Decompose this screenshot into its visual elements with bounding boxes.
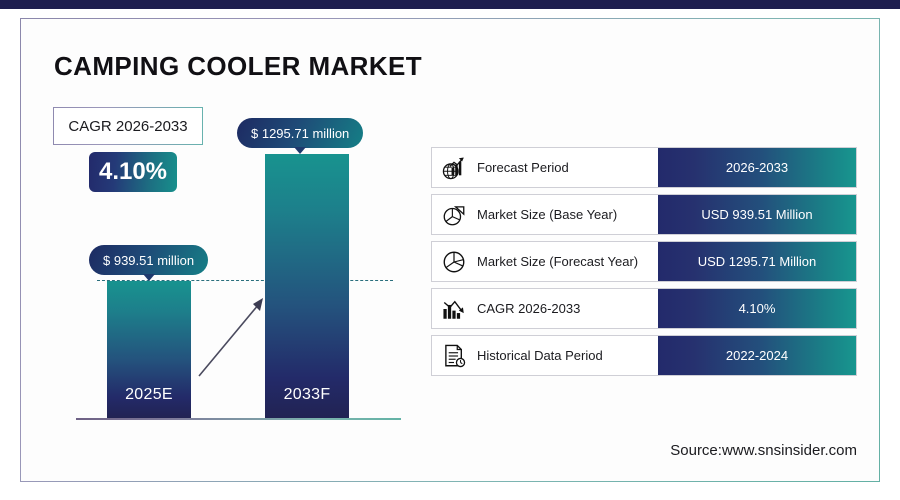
spec-label-cell: Forecast Period [432, 148, 658, 187]
spec-label-text: Historical Data Period [477, 348, 603, 363]
pie-chart-exploded-icon [441, 202, 467, 228]
bar-category-label-2033: 2033F [284, 386, 331, 418]
spec-label-cell: CAGR 2026-2033 [432, 289, 658, 328]
growth-arrow-icon [191, 284, 281, 384]
table-row: CAGR 2026-2033 4.10% [431, 288, 857, 329]
spec-value-text: USD 1295.71 Million [698, 254, 817, 269]
spec-value-text: 4.10% [739, 301, 776, 316]
document-clock-icon [441, 343, 467, 369]
bar-value-label-2033: $ 1295.71 million [251, 126, 349, 141]
spec-value-cell: 4.10% [658, 289, 856, 328]
globe-growth-chart-icon [441, 155, 467, 181]
spec-value-cell: USD 939.51 Million [658, 195, 856, 234]
spec-label-cell: Historical Data Period [432, 336, 658, 375]
table-row: Market Size (Base Year) USD 939.51 Milli… [431, 194, 857, 235]
spec-value-text: 2022-2024 [726, 348, 788, 363]
spec-label-cell: Market Size (Forecast Year) [432, 242, 658, 281]
spec-value-text: 2026-2033 [726, 160, 788, 175]
spec-label-text: CAGR 2026-2033 [477, 301, 580, 316]
bar-chart: $ 939.51 million $ 1295.71 million 2025E… [21, 19, 441, 439]
bar-chart-trend-icon [441, 296, 467, 322]
pill-pointer-icon [143, 274, 155, 281]
table-row: Historical Data Period 2022-2024 [431, 335, 857, 376]
top-accent-bar [0, 0, 900, 9]
infographic-frame: CAMPING COOLER MARKET CAGR 2026-2033 4.1… [20, 18, 880, 482]
spec-value-text: USD 939.51 Million [701, 207, 812, 222]
bar-category-label-2025: 2025E [125, 386, 173, 418]
infographic-canvas: CAMPING COOLER MARKET CAGR 2026-2033 4.1… [21, 19, 879, 481]
chart-axis-line [76, 418, 401, 420]
bar-value-pill-2033: $ 1295.71 million [237, 118, 363, 148]
table-row: Market Size (Forecast Year) USD 1295.71 … [431, 241, 857, 282]
bar-value-label-2025: $ 939.51 million [103, 253, 194, 268]
spec-label-cell: Market Size (Base Year) [432, 195, 658, 234]
spec-value-cell: USD 1295.71 Million [658, 242, 856, 281]
bar-value-pill-2025: $ 939.51 million [89, 245, 208, 275]
pill-pointer-icon [294, 147, 306, 154]
spec-value-cell: 2026-2033 [658, 148, 856, 187]
table-row: Forecast Period 2026-2033 [431, 147, 857, 188]
spec-table: Forecast Period 2026-2033 Market Size (B… [431, 147, 857, 382]
spec-label-text: Market Size (Base Year) [477, 207, 617, 222]
bar-2025e: 2025E [107, 281, 191, 418]
spec-label-text: Forecast Period [477, 160, 569, 175]
spec-value-cell: 2022-2024 [658, 336, 856, 375]
spec-label-text: Market Size (Forecast Year) [477, 254, 638, 269]
pie-chart-icon [441, 249, 467, 275]
source-attribution: Source:www.snsinsider.com [670, 442, 857, 459]
